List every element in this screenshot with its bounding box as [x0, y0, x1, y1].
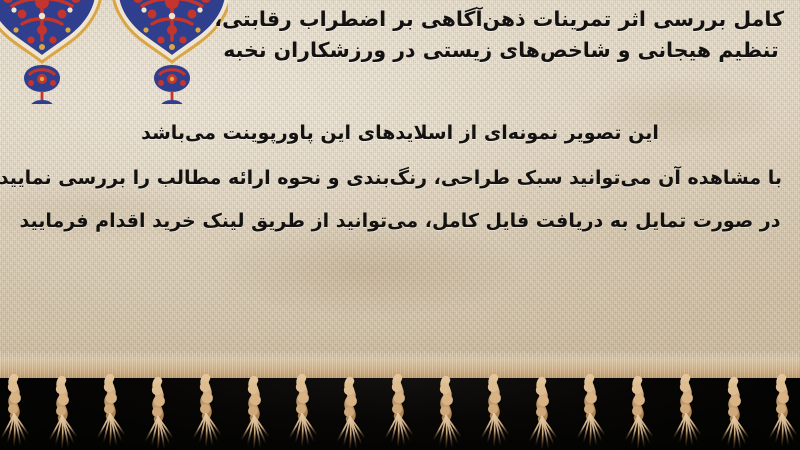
- slide-body-line-2: با مشاهده آن می‌توانید سبک طراحی، رنگ‌بن…: [18, 157, 782, 200]
- fringe-tassels-svg: [0, 352, 800, 450]
- slide-body-line-3: در صورت تمایل به دریافت فایل کامل، می‌تو…: [18, 200, 782, 243]
- slide-body-line-1: این تصویر نمونه‌ای از اسلایدهای این پاور…: [18, 112, 782, 155]
- slide-canvas: کامل بررسی اثر تمرینات ذهن‌آگاهی بر اضطر…: [0, 0, 800, 450]
- text-layer: کامل بررسی اثر تمرینات ذهن‌آگاهی بر اضطر…: [0, 0, 800, 374]
- carpet-fringe-band: [0, 352, 800, 450]
- fringe-tassel-row: [2, 378, 796, 448]
- slide-body: این تصویر نمونه‌ای از اسلایدهای این پاور…: [18, 112, 782, 243]
- slide-title-line-2: تنظیم هیجانی و شاخص‌های زیستی در ورزشکار…: [218, 35, 784, 66]
- slide-title: کامل بررسی اثر تمرینات ذهن‌آگاهی بر اضطر…: [218, 4, 784, 66]
- slide-title-line-1: کامل بررسی اثر تمرینات ذهن‌آگاهی بر اضطر…: [218, 4, 784, 35]
